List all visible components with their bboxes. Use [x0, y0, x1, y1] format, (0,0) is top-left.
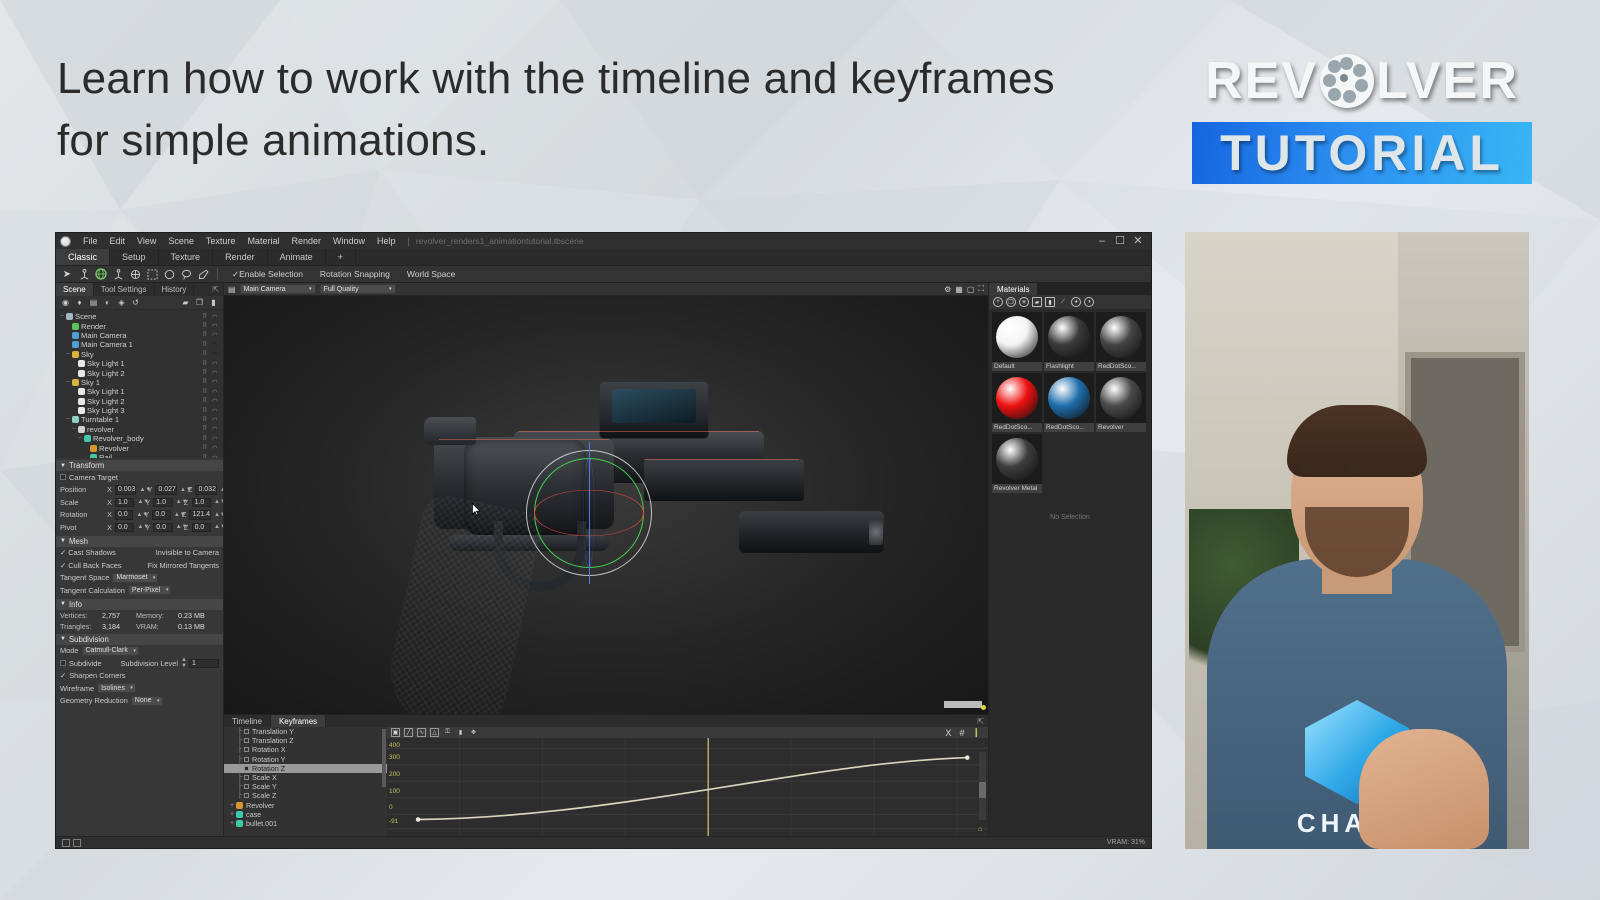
material-sphere-icon	[996, 377, 1038, 419]
linear-icon[interactable]: ╱	[404, 728, 413, 737]
tree-expander-icon[interactable]: +	[228, 802, 236, 809]
tree-item[interactable]: Render⌷◠	[56, 321, 223, 330]
material-name: RedDotSco...	[992, 423, 1042, 432]
section-transform[interactable]: ▼ Transform	[56, 460, 223, 471]
transform-toolbar: ➤ ✓Enable Selection Rotation Snapping Wo…	[56, 266, 1151, 283]
visibility-icon[interactable]: ◠	[212, 322, 219, 330]
vertices-label: Vertices:	[60, 611, 98, 620]
close-button[interactable]: ✕	[1129, 233, 1147, 249]
lock-icon[interactable]: ⌷	[203, 407, 209, 415]
invisible-to-camera-toggle[interactable]: Invisible to Camera	[156, 548, 219, 557]
tree-item[interactable]: Sky Light 2⌷◠	[56, 368, 223, 377]
status-icon-1[interactable]	[62, 839, 70, 847]
scale-x-field[interactable]: 1.0	[115, 498, 134, 508]
tree-item-label: Sky Light 1	[87, 359, 125, 368]
tree-item[interactable]: Sky Light 2⌷◠	[56, 397, 223, 406]
mode-tab-bar: Classic Setup Texture Render Animate +	[56, 249, 1151, 266]
position-z-field[interactable]: 0.032	[195, 485, 217, 495]
timeline-panel: Timeline Keyframes ⇱ ├Translation Y├Tran…	[224, 714, 988, 836]
tangent-space-label: Tangent Space	[60, 573, 109, 582]
visibility-icon[interactable]: ◠	[212, 388, 219, 396]
tree-item[interactable]: Sky Light 1⌷◠	[56, 359, 223, 368]
rotation-y-stepper[interactable]: ▲▼	[174, 512, 179, 518]
material-item[interactable]: Revolver	[1096, 373, 1146, 432]
visibility-icon[interactable]: ◠	[212, 360, 219, 368]
channel-checkbox[interactable]	[244, 766, 249, 771]
tangent-calculation-row: Tangent Calculation Per-Pixel	[56, 584, 223, 597]
fix-mirrored-tangents-toggle[interactable]: Fix Mirrored Tangents	[148, 561, 219, 570]
timeline-channel-row[interactable]: ├Scale Z	[224, 791, 387, 800]
tree-item-label: Revolver_body	[93, 434, 144, 443]
duplicate-icon[interactable]: ❐	[194, 297, 205, 308]
timeline-channel-row[interactable]: ├Scale Y	[224, 782, 387, 791]
cull-back-faces-toggle[interactable]: ✓Cull Back Faces	[60, 561, 122, 570]
pivot-y-stepper[interactable]: ▲▼	[176, 524, 181, 530]
visibility-icon[interactable]: ◠	[212, 407, 219, 415]
rotation-z-field[interactable]: 121.4	[189, 510, 211, 520]
tree-expander-icon[interactable]: −	[64, 416, 72, 423]
lock-icon[interactable]: ⌷	[203, 425, 209, 433]
scale-y-field[interactable]: 1.0	[153, 498, 172, 508]
hammer	[424, 417, 476, 445]
channel-checkbox[interactable]	[244, 747, 249, 752]
channel-checkbox[interactable]	[244, 784, 249, 789]
tree-item[interactable]: Sky Light 3⌷◠	[56, 406, 223, 415]
rotation-gizmo[interactable]	[534, 458, 644, 568]
channel-list[interactable]: ├Translation Y├Translation Z├Rotation X├…	[224, 727, 387, 836]
transform-row-label: Pivot	[60, 523, 104, 532]
tree-node-icon	[78, 388, 85, 395]
timeline-row-label: Rotation X	[252, 745, 286, 754]
subdivision-mode-label: Mode	[60, 646, 79, 655]
subdivide-row: Subdivide Subdivision Level ▲▼ 1	[56, 657, 223, 670]
position-y-field[interactable]: 0.027	[155, 485, 177, 495]
home-icon[interactable]: ⌂	[978, 826, 986, 834]
pivot-y-field[interactable]: 0.0	[153, 523, 172, 533]
pivot-z-field[interactable]: 0.0	[192, 523, 211, 533]
tree-branch-icon: ├	[236, 792, 244, 799]
ease-icon[interactable]: ∿	[417, 728, 426, 737]
tree-item[interactable]: −Sky 1⌷◠	[56, 378, 223, 387]
scale-y-stepper[interactable]: ▲▼	[176, 499, 181, 505]
memory-label: Memory:	[136, 611, 174, 620]
turntable-icon[interactable]: ↺	[130, 297, 141, 308]
select-arrow-icon[interactable]: ➤	[60, 267, 74, 281]
delete-icon[interactable]: ▮	[1045, 297, 1055, 307]
scale-z-stepper[interactable]: ▲▼	[214, 499, 219, 505]
material-sphere-icon	[1048, 377, 1090, 419]
axis-label-x: X	[107, 510, 112, 519]
light-icon[interactable]: ♦	[74, 297, 85, 308]
transform-row-rotation: RotationX0.0▲▼Y0.0▲▼Z121.4▲▼	[56, 509, 223, 522]
visibility-icon[interactable]: ◠	[212, 313, 219, 321]
tree-item[interactable]: Main Camera⌷◠	[56, 331, 223, 340]
menu-render[interactable]: Render	[285, 233, 327, 249]
visibility-icon[interactable]: ◠	[212, 331, 219, 339]
lock-icon[interactable]: ⌷	[203, 388, 209, 396]
tangent-space-dropdown[interactable]: Marmoset	[112, 573, 158, 583]
lock-icon[interactable]: ⌷	[203, 378, 209, 386]
object-icon	[236, 802, 243, 809]
smooth-icon[interactable]: △	[430, 728, 439, 737]
timeline-object-row[interactable]: +case	[224, 810, 387, 819]
flashlight-lens	[869, 519, 883, 545]
tree-item[interactable]: −Scene⌷◠	[56, 312, 223, 321]
tab-add-button[interactable]: +	[326, 249, 356, 265]
tree-item[interactable]: −Revolver_body⌷◠	[56, 434, 223, 443]
tree-item-label: Sky Light 2	[87, 397, 125, 406]
maximize-icon[interactable]: ⛶	[978, 284, 984, 294]
eyedropper-icon[interactable]: ⟋	[1058, 297, 1068, 307]
timeline-row-label: Scale X	[252, 773, 277, 782]
tree-node-icon	[72, 379, 79, 386]
menu-material[interactable]: Material	[241, 233, 285, 249]
tree-item-label: Turntable 1	[81, 415, 119, 424]
lock-icon[interactable]: ⌷	[203, 350, 209, 358]
geometry-reduction-row: Geometry Reduction None	[56, 695, 223, 708]
marquee-select-icon[interactable]	[145, 267, 159, 281]
left-eye	[1299, 465, 1314, 473]
tree-node-icon	[72, 332, 79, 339]
tree-item-label: Revolver	[99, 444, 129, 453]
channel-checkbox[interactable]	[244, 729, 249, 734]
channel-checkbox[interactable]	[244, 793, 249, 798]
tab-timeline[interactable]: Timeline	[224, 715, 271, 727]
visibility-icon[interactable]: ◠	[212, 378, 219, 386]
rotation-x-field[interactable]: 0.0	[115, 510, 133, 520]
section-info-label: Info	[69, 600, 82, 609]
y-axis-tick: 100	[389, 788, 400, 795]
tree-expander-icon[interactable]: +	[228, 820, 236, 827]
viewport-scale-badge	[944, 701, 982, 708]
tab-keyframes[interactable]: Keyframes	[271, 715, 326, 727]
tree-item-label: revolver	[87, 425, 114, 434]
channel-list-scrollbar[interactable]	[382, 729, 386, 787]
tab-history[interactable]: History	[155, 283, 195, 296]
tab-animate[interactable]: Animate	[268, 249, 326, 265]
pivot-x-stepper[interactable]: ▲▼	[137, 524, 142, 530]
viewport-indicator-dot	[981, 705, 986, 710]
tree-item[interactable]: −Turntable 1⌷◠	[56, 415, 223, 424]
tab-texture[interactable]: Texture	[159, 249, 214, 265]
position-z-stepper[interactable]: ▲▼	[220, 487, 223, 493]
material-item[interactable]: RedDotSco...	[992, 373, 1042, 432]
lock-icon[interactable]: ⌷	[203, 444, 209, 452]
add-icon[interactable]: +	[993, 297, 1003, 307]
rotation-z-stepper[interactable]: ▲▼	[214, 512, 219, 518]
object-icon[interactable]: ◈	[116, 297, 127, 308]
tree-item[interactable]: −Sky⌷◠	[56, 350, 223, 359]
menu-scene[interactable]: Scene	[162, 233, 200, 249]
graph-canvas[interactable]: ⌂ 4003002001000-91	[387, 738, 988, 836]
tangent-calculation-label: Tangent Calculation	[60, 586, 125, 595]
tab-setup[interactable]: Setup	[110, 249, 159, 265]
lasso-select-icon[interactable]	[179, 267, 193, 281]
channel-checkbox[interactable]	[244, 775, 249, 780]
tree-item[interactable]: Main Camera 1⌷◠	[56, 340, 223, 349]
lock-icon[interactable]: ⌷	[203, 360, 209, 368]
tree-branch-icon: ├	[236, 737, 244, 744]
center-column: ▤ Main Camera Full Quality ⚙ ▦ ▢ ⛶	[224, 283, 988, 836]
tree-expander-icon[interactable]: −	[58, 313, 66, 320]
pivot-x-field[interactable]: 0.0	[115, 523, 134, 533]
y-axis-tick: 300	[389, 754, 400, 761]
visibility-icon[interactable]: ◠	[212, 444, 219, 452]
delete-icon[interactable]: ▮	[208, 297, 219, 308]
scene-filename: revolver_renders1_animationtutorial.tbsc…	[416, 236, 584, 246]
marmoset-toolbag-window: File Edit View Scene Texture Material Re…	[55, 232, 1152, 849]
revolver-cylinder-icon	[1320, 54, 1374, 108]
camera-dropdown[interactable]: Main Camera	[240, 284, 316, 294]
hand	[1359, 729, 1489, 849]
transform-row-pivot: PivotX0.0▲▼Y0.0▲▼Z0.0▲▼	[56, 521, 223, 534]
app-logo-icon	[60, 236, 71, 247]
timeline-channel-row[interactable]: ├Rotation Z	[224, 764, 387, 773]
gizmo-vertical-axis[interactable]	[589, 442, 590, 584]
pivot-z-stepper[interactable]: ▲▼	[214, 524, 219, 530]
logo-bottom-bar: TUTORIAL	[1192, 122, 1532, 184]
visibility-icon[interactable]: ◠	[212, 397, 219, 405]
scale-icon[interactable]	[111, 267, 125, 281]
graph-toolbar: ▣ ╱ ∿ △ ⚿ ▮ ✥ X # ❙	[387, 727, 988, 738]
tree-expander-icon[interactable]: +	[228, 811, 236, 818]
timeline-channel-row[interactable]: ├Rotation Y	[224, 755, 387, 764]
lock-icon[interactable]: ⌷	[203, 313, 209, 321]
wireframe-label: Wireframe	[60, 684, 94, 693]
section-mesh[interactable]: ▼ Mesh	[56, 536, 223, 547]
visibility-icon[interactable]: ◠	[212, 350, 219, 358]
material-item[interactable]: RedDotSco...	[1096, 312, 1146, 371]
timeline-channel-row[interactable]: ├Rotation X	[224, 745, 387, 754]
key-icon[interactable]: ⚿	[443, 728, 452, 737]
camera-target-checkbox[interactable]	[60, 474, 66, 480]
material-name: Default	[992, 362, 1042, 371]
tree-node-icon	[72, 341, 79, 348]
tangent-calculation-dropdown[interactable]: Per-Pixel	[128, 585, 171, 595]
transform-row-label: Position	[60, 485, 104, 494]
visibility-icon[interactable]: ◠	[212, 369, 219, 377]
minimize-button[interactable]: –	[1093, 233, 1111, 249]
cast-shadows-label: Cast Shadows	[68, 548, 116, 557]
status-bar: VRAM: 31%	[56, 836, 1151, 848]
triangles-label: Triangles:	[60, 622, 98, 631]
layout-icon[interactable]: ▢	[967, 285, 975, 294]
tree-branch-icon: ├	[236, 765, 244, 772]
translate-icon[interactable]	[77, 267, 91, 281]
numeric-icon[interactable]: #	[959, 728, 964, 738]
tree-item[interactable]: Rail⌷◠	[56, 453, 223, 458]
key-interpolation-icon[interactable]: ▣	[391, 728, 400, 737]
material-item[interactable]: Default	[992, 312, 1042, 371]
menu-help[interactable]: Help	[371, 233, 402, 249]
timeline-channel-row[interactable]: ├Scale X	[224, 773, 387, 782]
lock-icon[interactable]: ⌷	[203, 397, 209, 405]
circle-select-icon[interactable]	[162, 267, 176, 281]
grid-icon[interactable]: ▦	[955, 285, 963, 294]
lock-icon[interactable]: ⌷	[203, 435, 209, 443]
section-subdivision-label: Subdivision	[69, 635, 109, 644]
refresh-icon[interactable]: ✳	[1019, 297, 1029, 307]
no-selection-label: No Selection	[989, 514, 1151, 521]
lock-icon[interactable]: ⌷	[203, 322, 209, 330]
position-y-stepper[interactable]: ▲▼	[180, 487, 185, 493]
sharpen-corners-row[interactable]: ✓ Sharpen Corners	[56, 670, 223, 683]
mesh-row-2: ✓Cull Back Faces Fix Mirrored Tangents	[56, 559, 223, 572]
material-name: Revolver	[1096, 423, 1146, 432]
tree-node-icon	[78, 398, 85, 405]
camera-icon[interactable]: ◉	[60, 297, 71, 308]
axis-label-x: X	[107, 485, 112, 494]
cast-shadows-toggle[interactable]: ✓Cast Shadows	[60, 548, 116, 557]
tree-expander-icon[interactable]: −	[64, 379, 72, 386]
y-axis-tick: 200	[389, 771, 400, 778]
rotate-icon[interactable]	[94, 267, 108, 281]
fit-curve-icon[interactable]: ✥	[469, 728, 478, 737]
section-info[interactable]: ▼ Info	[56, 599, 223, 610]
tree-branch-icon: ├	[236, 728, 244, 735]
tab-materials[interactable]: Materials	[989, 283, 1037, 295]
folder-icon[interactable]: ▰	[180, 297, 191, 308]
tree-expander-icon[interactable]: −	[70, 426, 78, 433]
materials-toolbar: + ❐ ✳ ▰ ▮ ⟋ ◕ ◑	[989, 295, 1151, 309]
world-space-toggle[interactable]: World Space	[400, 269, 463, 279]
axis-label-x: X	[107, 523, 112, 532]
timeline-object-row[interactable]: +bullet.001	[224, 819, 387, 828]
subdivision-mode-row: Mode Catmull-Clark	[56, 645, 223, 658]
position-x-field[interactable]: 0.003	[115, 485, 137, 495]
section-subdivision[interactable]: ▼ Subdivision	[56, 634, 223, 645]
tree-expander-icon[interactable]: −	[64, 351, 72, 358]
quality-dropdown[interactable]: Full Quality	[320, 284, 396, 294]
subdivision-level-value[interactable]: 1	[189, 659, 219, 669]
grip	[379, 491, 544, 714]
materials-tabs: Materials	[989, 283, 1151, 295]
folder-icon[interactable]: ▰	[1032, 297, 1042, 307]
rotation-x-stepper[interactable]: ▲▼	[136, 512, 141, 518]
lock-icon[interactable]: ⌷	[203, 369, 209, 377]
visibility-icon[interactable]: ◠	[212, 425, 219, 433]
enable-selection-toggle[interactable]: ✓Enable Selection	[225, 269, 310, 280]
vram-value: 0.13 MB	[178, 622, 208, 631]
scale-x-stepper[interactable]: ▲▼	[137, 499, 142, 505]
channel-checkbox[interactable]	[244, 757, 249, 762]
popout-icon[interactable]: ⇱	[973, 715, 988, 727]
material-item[interactable]: Flashlight	[1044, 312, 1094, 371]
material-grid[interactable]: DefaultFlashlightRedDotSco...RedDotSco..…	[989, 309, 1151, 496]
transform-icon[interactable]	[128, 267, 142, 281]
object-icon	[236, 820, 243, 827]
visibility-icon[interactable]: ◠	[212, 435, 219, 443]
visibility-icon[interactable]: ◠	[212, 416, 219, 424]
rotation-y-field[interactable]: 0.0	[152, 510, 170, 520]
scale-z-field[interactable]: 1.0	[192, 498, 211, 508]
tab-tool-settings[interactable]: Tool Settings	[94, 283, 155, 296]
close-curve-icon[interactable]: X	[945, 728, 951, 738]
y-axis-tick: -91	[389, 818, 398, 825]
vram-label: VRAM:	[136, 622, 174, 631]
duplicate-icon[interactable]: ❐	[1006, 297, 1016, 307]
visibility-icon[interactable]: ◠	[212, 454, 219, 458]
subdivide-checkbox[interactable]	[60, 660, 66, 666]
paint-select-icon[interactable]	[196, 267, 210, 281]
3d-viewport[interactable]	[224, 296, 988, 714]
timeline-channel-row[interactable]: ├Translation Z	[224, 736, 387, 745]
tree-item[interactable]: −revolver⌷◠	[56, 425, 223, 434]
subdivide-label: Subdivide	[69, 659, 101, 668]
value-icon[interactable]: ❙	[972, 727, 980, 738]
menu-window[interactable]: Window	[327, 233, 371, 249]
assign-icon[interactable]: ◕	[1071, 297, 1081, 307]
subdivision-mode-dropdown[interactable]: Catmull-Clark	[82, 646, 139, 656]
lock-icon[interactable]: ⌷	[203, 341, 209, 349]
tree-branch-icon: ├	[236, 783, 244, 790]
collapse-arrow-icon: ▼	[60, 463, 66, 469]
lock-icon[interactable]: ⌷	[203, 416, 209, 424]
preview-icon[interactable]: ◑	[1084, 297, 1094, 307]
right-panel: Materials + ❐ ✳ ▰ ▮ ⟋ ◕ ◑ DefaultFlashli…	[988, 283, 1151, 836]
menu-file[interactable]: File	[77, 233, 104, 249]
material-item[interactable]: Revolver Metal	[992, 434, 1042, 493]
page-title: Learn how to work with the timeline and …	[57, 48, 1117, 173]
menu-edit[interactable]: Edit	[104, 233, 132, 249]
popout-icon[interactable]: ⇱	[208, 283, 223, 296]
tab-render[interactable]: Render	[213, 249, 268, 265]
tree-item[interactable]: Revolver⌷◠	[56, 443, 223, 452]
logo-top-row: REV LVER	[1192, 44, 1532, 118]
timeline-channel-row[interactable]: ├Translation Y	[224, 727, 387, 736]
material-preview	[992, 373, 1042, 423]
menu-view[interactable]: View	[131, 233, 162, 249]
geometry-reduction-dropdown[interactable]: None	[131, 696, 163, 706]
material-sphere-icon	[996, 316, 1038, 358]
tree-item[interactable]: Sky Light 1⌷◠	[56, 387, 223, 396]
title-bar: File Edit View Scene Texture Material Re…	[56, 233, 1151, 249]
subdivision-level-stepper[interactable]: ▲▼	[181, 657, 186, 669]
timeline-row-label: Rotation Y	[252, 755, 285, 764]
status-icon-2[interactable]	[73, 839, 81, 847]
curve-graph[interactable]: ▣ ╱ ∿ △ ⚿ ▮ ✥ X # ❙	[387, 727, 988, 836]
transform-row-scale: ScaleX1.0▲▼Y1.0▲▼Z1.0▲▼	[56, 496, 223, 509]
rotation-snapping-toggle[interactable]: Rotation Snapping	[313, 269, 397, 279]
visibility-icon[interactable]: ◠	[212, 341, 219, 349]
scene-tree[interactable]: −Scene⌷◠Render⌷◠Main Camera⌷◠Main Camera…	[56, 310, 223, 458]
gear-icon[interactable]: ⚙	[944, 285, 951, 294]
tree-item-label: Scene	[75, 312, 97, 321]
maximize-button[interactable]: ☐	[1111, 233, 1129, 249]
menu-texture[interactable]: Texture	[200, 233, 242, 249]
vram-status: VRAM: 31%	[1107, 839, 1145, 846]
material-item[interactable]: RedDotSco...	[1044, 373, 1094, 432]
graph-scroll-thumb[interactable]	[979, 782, 986, 798]
sky-icon[interactable]: ◐	[102, 297, 113, 308]
tab-classic[interactable]: Classic	[56, 249, 110, 265]
position-x-stepper[interactable]: ▲▼	[139, 487, 144, 493]
wireframe-dropdown[interactable]: Isolines	[97, 683, 136, 693]
lock-icon[interactable]: ⌷	[203, 454, 209, 458]
tab-scene[interactable]: Scene	[56, 283, 94, 296]
object-icon	[236, 811, 243, 818]
timeline-object-row[interactable]: +Revolver	[224, 801, 387, 810]
tree-expander-icon[interactable]: −	[76, 435, 84, 442]
mesh-icon[interactable]: ▤	[88, 297, 99, 308]
main-body: Scene Tool Settings History ⇱ ◉ ♦ ▤ ◐ ◈ …	[56, 283, 1151, 836]
channel-checkbox[interactable]	[244, 738, 249, 743]
camera-target-row[interactable]: Camera Target	[56, 471, 223, 484]
lock-icon[interactable]: ⌷	[203, 331, 209, 339]
tree-item-label: Sky Light 3	[87, 406, 125, 415]
delete-icon[interactable]: ▮	[456, 728, 465, 737]
axis-label-y: Y	[145, 523, 150, 532]
